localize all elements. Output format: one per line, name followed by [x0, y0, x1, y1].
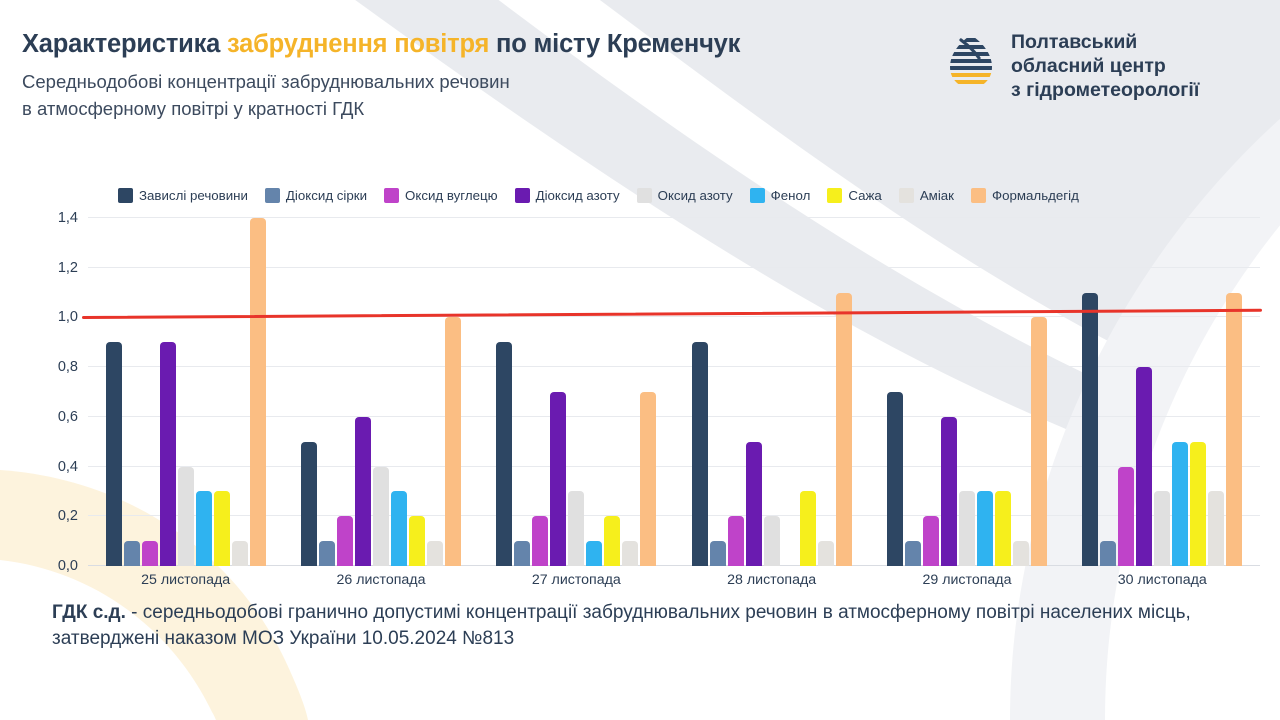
chart-bar[interactable] — [836, 293, 852, 566]
legend-swatch — [515, 188, 530, 203]
chart-bar[interactable] — [640, 392, 656, 566]
chart-bar[interactable] — [1100, 541, 1116, 566]
chart-bar[interactable] — [818, 541, 834, 566]
chart-bar[interactable] — [142, 541, 158, 566]
page-title: Характеристика забруднення повітря по мі… — [22, 30, 740, 59]
legend-item[interactable]: Сажа — [827, 188, 881, 203]
air-pollution-bar-chart: Завислі речовиниДіоксид сіркиОксид вугле… — [0, 160, 1280, 600]
legend-swatch — [637, 188, 652, 203]
chart-bar[interactable] — [568, 491, 584, 566]
bar-group — [1065, 218, 1260, 566]
bar-group — [88, 218, 283, 566]
chart-bar[interactable] — [800, 491, 816, 566]
chart-bar[interactable] — [746, 442, 762, 566]
chart-bar[interactable] — [178, 467, 194, 566]
y-axis-tick-label: 1,4 — [58, 210, 78, 226]
y-axis-tick-label: 0,6 — [58, 409, 78, 425]
legend-label: Фенол — [771, 188, 811, 203]
bar-group — [479, 218, 674, 566]
legend-label: Діоксид азоту — [536, 188, 620, 203]
chart-bar[interactable] — [124, 541, 140, 566]
chart-bar[interactable] — [196, 491, 212, 566]
page-title-part2: по місту Кременчук — [489, 30, 740, 58]
legend-swatch — [118, 188, 133, 203]
mpc-footnote-term: ГДК с.д. — [52, 602, 126, 623]
hydrometeorology-logo-icon — [945, 34, 997, 96]
legend-label: Діоксид сірки — [286, 188, 367, 203]
page-header: Характеристика забруднення повітря по мі… — [0, 0, 1280, 140]
legend-label: Оксид азоту — [658, 188, 733, 203]
chart-bar[interactable] — [319, 541, 335, 566]
y-axis-tick-label: 0,0 — [58, 558, 78, 574]
chart-bar[interactable] — [514, 541, 530, 566]
chart-bar[interactable] — [496, 342, 512, 566]
page-title-highlight: забруднення повітря — [227, 30, 489, 58]
legend-swatch — [265, 188, 280, 203]
chart-bar[interactable] — [1226, 293, 1242, 566]
bar-group — [674, 218, 869, 566]
organization-logo: Полтавський обласний центр з гідрометеор… — [945, 30, 1199, 102]
legend-item[interactable]: Аміак — [899, 188, 954, 203]
chart-bar[interactable] — [214, 491, 230, 566]
x-axis-tick-label: 28 листопада — [674, 572, 869, 588]
chart-bar[interactable] — [941, 417, 957, 566]
mpc-footnote: ГДК с.д. - середньодобові граничнo допус… — [52, 600, 1262, 652]
legend-item[interactable]: Діоксид азоту — [515, 188, 620, 203]
chart-bar[interactable] — [373, 467, 389, 566]
legend-item[interactable]: Фенол — [750, 188, 811, 203]
chart-plot-area: 0,00,20,40,60,81,01,21,4 — [88, 218, 1260, 566]
page-subtitle: Середньодобові концентрації забруднюваль… — [22, 68, 510, 122]
legend-label: Аміак — [920, 188, 954, 203]
chart-bar[interactable] — [1190, 442, 1206, 566]
legend-swatch — [971, 188, 986, 203]
legend-item[interactable]: Формальдегід — [971, 188, 1079, 203]
x-axis-tick-label: 26 листопада — [283, 572, 478, 588]
legend-swatch — [827, 188, 842, 203]
organization-name: Полтавський обласний центр з гідрометеор… — [1011, 30, 1199, 102]
y-axis-tick-label: 0,8 — [58, 359, 78, 375]
chart-bar[interactable] — [1208, 491, 1224, 566]
chart-bar[interactable] — [692, 342, 708, 566]
chart-bar[interactable] — [1136, 367, 1152, 566]
chart-bar[interactable] — [250, 218, 266, 566]
x-axis-tick-label: 30 листопада — [1065, 572, 1260, 588]
chart-bar[interactable] — [355, 417, 371, 566]
chart-bar[interactable] — [337, 516, 353, 566]
legend-label: Формальдегід — [992, 188, 1079, 203]
chart-bar[interactable] — [604, 516, 620, 566]
chart-bar[interactable] — [445, 317, 461, 566]
chart-bar[interactable] — [923, 516, 939, 566]
mpc-footnote-text: - середньодобові граничнo допустимі конц… — [52, 602, 1191, 649]
chart-bar[interactable] — [764, 516, 780, 566]
chart-bar[interactable] — [586, 541, 602, 566]
legend-item[interactable]: Оксид вуглецю — [384, 188, 498, 203]
chart-bar[interactable] — [106, 342, 122, 566]
bar-group — [283, 218, 478, 566]
chart-bar[interactable] — [1082, 293, 1098, 566]
chart-bar[interactable] — [391, 491, 407, 566]
chart-bar[interactable] — [1118, 467, 1134, 566]
chart-bar[interactable] — [532, 516, 548, 566]
chart-bar[interactable] — [728, 516, 744, 566]
chart-bar[interactable] — [1013, 541, 1029, 566]
y-axis-tick-label: 1,2 — [58, 260, 78, 276]
bar-group — [869, 218, 1064, 566]
chart-bar-groups — [88, 218, 1260, 566]
legend-swatch — [750, 188, 765, 203]
legend-item[interactable]: Завислі речовини — [118, 188, 248, 203]
chart-bar[interactable] — [959, 491, 975, 566]
chart-bar[interactable] — [160, 342, 176, 566]
chart-bar[interactable] — [427, 541, 443, 566]
chart-bar[interactable] — [1172, 442, 1188, 566]
legend-swatch — [899, 188, 914, 203]
x-axis-tick-label: 29 листопада — [869, 572, 1064, 588]
chart-bar[interactable] — [232, 541, 248, 566]
chart-bar[interactable] — [622, 541, 638, 566]
chart-bar[interactable] — [905, 541, 921, 566]
legend-item[interactable]: Оксид азоту — [637, 188, 733, 203]
chart-bar[interactable] — [995, 491, 1011, 566]
legend-label: Сажа — [848, 188, 881, 203]
legend-label: Завислі речовини — [139, 188, 248, 203]
y-axis-tick-label: 0,2 — [58, 508, 78, 524]
y-axis-tick-label: 0,4 — [58, 459, 78, 475]
legend-label: Оксид вуглецю — [405, 188, 498, 203]
chart-bar[interactable] — [977, 491, 993, 566]
legend-item[interactable]: Діоксид сірки — [265, 188, 367, 203]
chart-bar[interactable] — [550, 392, 566, 566]
page-title-part1: Характеристика — [22, 30, 227, 58]
chart-x-axis-labels: 25 листопада26 листопада27 листопада28 л… — [88, 572, 1260, 588]
chart-bar[interactable] — [409, 516, 425, 566]
x-axis-tick-label: 25 листопада — [88, 572, 283, 588]
chart-bar[interactable] — [301, 442, 317, 566]
chart-bar[interactable] — [1031, 317, 1047, 566]
chart-bar[interactable] — [710, 541, 726, 566]
chart-bar[interactable] — [887, 392, 903, 566]
legend-swatch — [384, 188, 399, 203]
y-axis-tick-label: 1,0 — [58, 309, 78, 325]
chart-bar[interactable] — [1154, 491, 1170, 566]
chart-legend: Завислі речовиниДіоксид сіркиОксид вугле… — [118, 188, 1248, 203]
x-axis-tick-label: 27 листопада — [479, 572, 674, 588]
